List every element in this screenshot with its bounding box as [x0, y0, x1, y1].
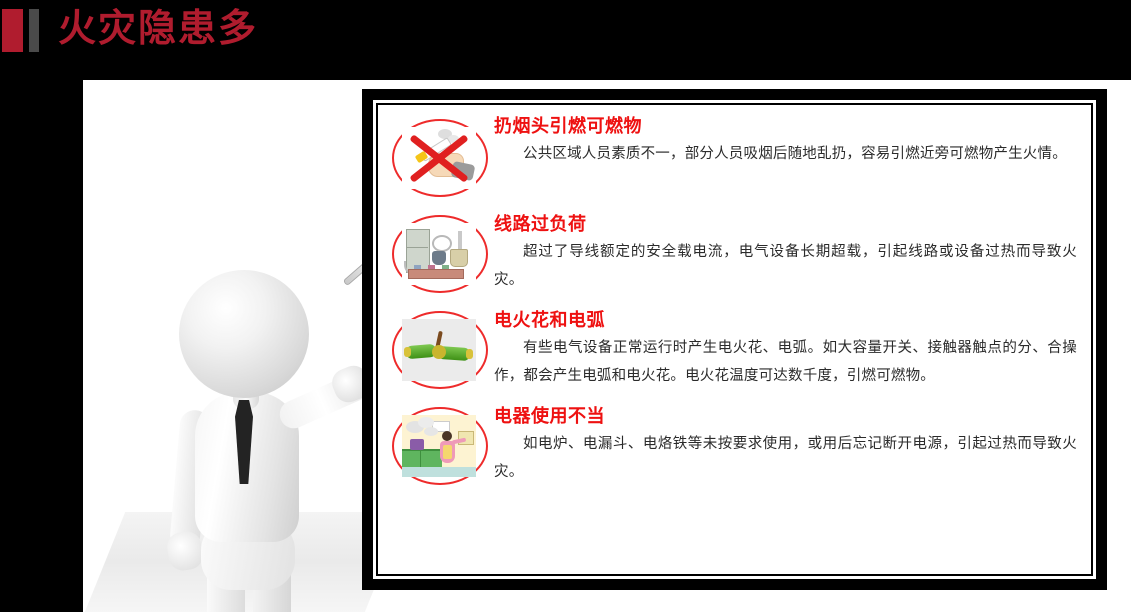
hazard-title: 电火花和电弧 — [494, 309, 1077, 332]
appliance-overload-icon — [390, 209, 494, 301]
no-smoking-icon — [390, 113, 494, 205]
list-item[interactable]: 电器使用不当 如电炉、电漏斗、电烙铁等未按要求使用，或用后忘记断开电源，引起过热… — [390, 401, 1077, 493]
frame-inner-border: 扔烟头引燃可燃物 公共区域人员素质不一，部分人员吸烟后随地乱扔，容易引燃近旁可燃… — [376, 103, 1093, 576]
list-item[interactable]: 扔烟头引燃可燃物 公共区域人员素质不一，部分人员吸烟后随地乱扔，容易引燃近旁可燃… — [390, 113, 1077, 205]
list-item[interactable]: 线路过负荷 超过了导线额定的安全载电流，电气设备长期超载，引起线路或设备过热而导… — [390, 209, 1077, 301]
hazard-body: 如电炉、电漏斗、电烙铁等未按要求使用，或用后忘记断开电源，引起过热而导致火灾。 — [494, 430, 1077, 486]
left-black-gutter — [0, 80, 83, 612]
list-item-text: 扔烟头引燃可燃物 公共区域人员素质不一，部分人员吸烟后随地乱扔，容易引燃近旁可燃… — [494, 113, 1077, 168]
list-item-text: 电器使用不当 如电炉、电漏斗、电烙铁等未按要求使用，或用后忘记断开电源，引起过热… — [494, 401, 1077, 486]
hazard-body: 有些电气设备正常运行时产生电火花、电弧。如大容量开关、接触器触点的分、合操作，都… — [494, 334, 1077, 390]
header-accent-red-block — [2, 9, 23, 52]
figure-photo — [83, 80, 383, 612]
figure-head — [179, 270, 309, 398]
frame-white-gap: 扔烟头引燃可燃物 公共区域人员素质不一，部分人员吸烟后随地乱扔，容易引燃近旁可燃… — [373, 100, 1096, 579]
hazard-title: 扔烟头引燃可燃物 — [494, 115, 1077, 138]
page-title: 火灾隐患多 — [58, 3, 258, 55]
header-band: 火灾隐患多 — [0, 0, 1131, 80]
list-item-text: 电火花和电弧 有些电气设备正常运行时产生电火花、电弧。如大容量开关、接触器触点的… — [494, 305, 1077, 390]
hazard-title: 电器使用不当 — [494, 405, 1077, 428]
icon-art — [402, 319, 476, 381]
icon-art — [402, 127, 476, 189]
header-accent-gray-block — [29, 9, 39, 52]
icon-art — [402, 223, 476, 285]
electric-cable-spark-icon — [390, 305, 494, 397]
icon-art — [402, 415, 476, 477]
content-frame: 扔烟头引燃可燃物 公共区域人员素质不一，部分人员吸烟后随地乱扔，容易引燃近旁可燃… — [362, 89, 1107, 590]
hazard-list: 扔烟头引燃可燃物 公共区域人员素质不一，部分人员吸烟后随地乱扔，容易引燃近旁可燃… — [390, 113, 1077, 566]
kitchen-appliance-misuse-icon — [390, 401, 494, 493]
hazard-body: 公共区域人员素质不一，部分人员吸烟后随地乱扔，容易引燃近旁可燃物产生火情。 — [494, 140, 1077, 168]
hazard-body: 超过了导线额定的安全载电流，电气设备长期超载，引起线路或设备过热而导致火灾。 — [494, 238, 1077, 294]
list-item-text: 线路过负荷 超过了导线额定的安全载电流，电气设备长期超载，引起线路或设备过热而导… — [494, 209, 1077, 294]
hazard-title: 线路过负荷 — [494, 213, 1077, 236]
slide-canvas: 火灾隐患多 — [0, 0, 1131, 612]
list-item[interactable]: 电火花和电弧 有些电气设备正常运行时产生电火花、电弧。如大容量开关、接触器触点的… — [390, 305, 1077, 397]
